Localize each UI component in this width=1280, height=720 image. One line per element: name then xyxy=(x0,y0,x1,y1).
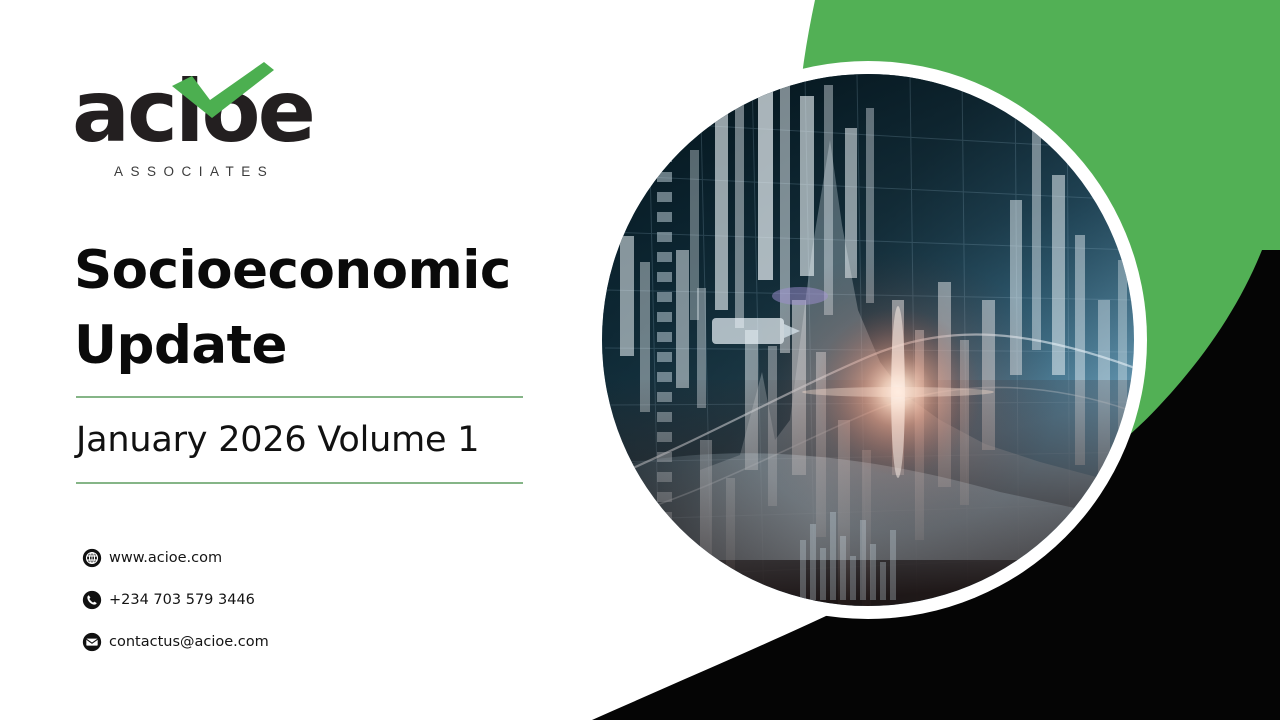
phone-icon xyxy=(82,590,102,610)
edition-block: January 2026 Volume 1 xyxy=(76,396,523,484)
violet-flare xyxy=(772,287,828,305)
phone-text: +234 703 579 3446 xyxy=(109,592,255,608)
globe-icon xyxy=(82,548,102,568)
page-title: Socioeconomic Update xyxy=(74,233,544,384)
title-line-1: Socioeconomic xyxy=(74,233,544,308)
brand-logo: acioe ASSOCIATES xyxy=(72,66,352,179)
divider-top xyxy=(76,396,523,398)
email-text: contactus@acioe.com xyxy=(109,634,269,650)
logo-subtitle: ASSOCIATES xyxy=(114,164,352,179)
green-check-icon xyxy=(170,60,278,122)
website-text: www.acioe.com xyxy=(109,550,222,566)
slide-canvas: acioe ASSOCIATES Socioeconomic Update Ja… xyxy=(0,0,1280,720)
contact-website[interactable]: www.acioe.com xyxy=(82,538,269,578)
title-line-2: Update xyxy=(74,308,544,383)
contact-email[interactable]: contactus@acioe.com xyxy=(82,622,269,662)
left-content-column: acioe ASSOCIATES Socioeconomic Update Ja… xyxy=(0,0,600,720)
divider-bottom xyxy=(76,482,523,484)
envelope-icon xyxy=(82,632,102,652)
logo-mark: acioe xyxy=(72,66,337,158)
contact-phone[interactable]: +234 703 579 3446 xyxy=(82,580,269,620)
contact-list: www.acioe.com +234 703 579 3446 contactu… xyxy=(82,538,269,664)
edition-label: January 2026 Volume 1 xyxy=(76,398,523,482)
